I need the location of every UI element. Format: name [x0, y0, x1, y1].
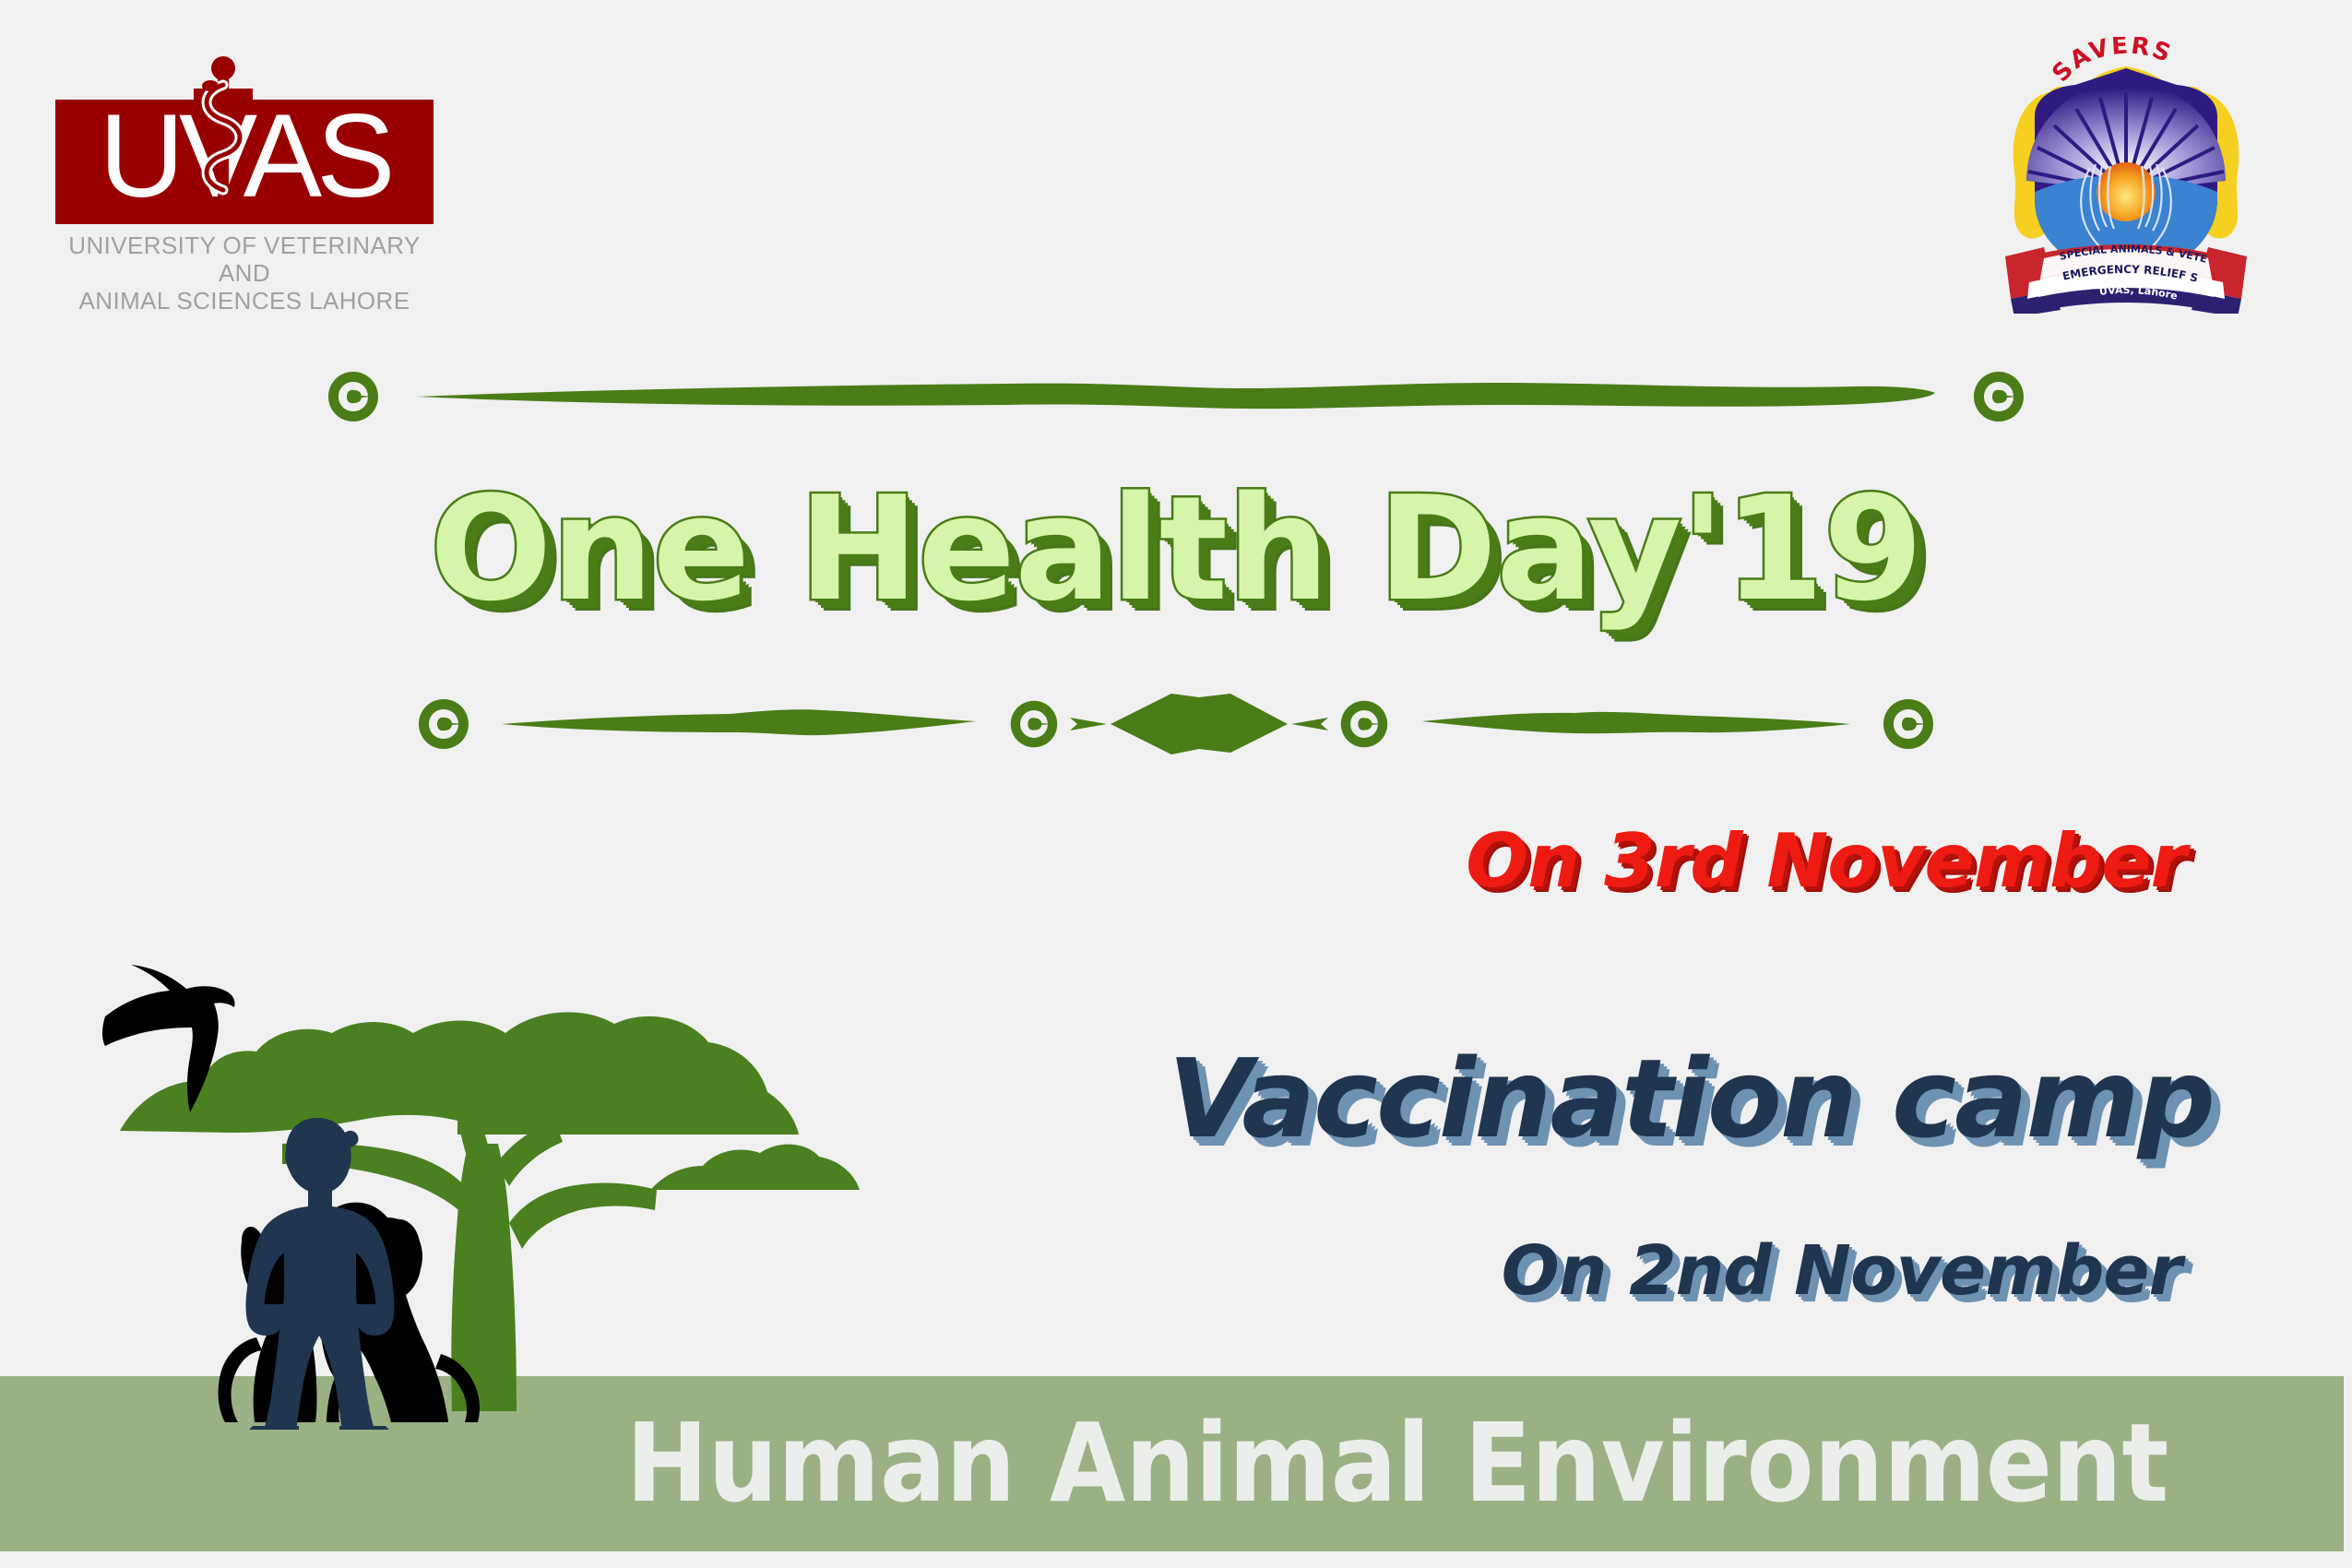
- diamond-ornament-icon: [1107, 692, 1291, 756]
- uvas-subtitle-line1: UNIVERSITY OF VETERINARY AND: [55, 232, 434, 287]
- acacia-tree-icon: [120, 1012, 860, 1411]
- sun-icon: [2097, 162, 2156, 221]
- leaf-tip-icon: [1068, 712, 1107, 736]
- ring-ornament-icon: [1007, 698, 1061, 750]
- one-health-day-date: On 3rd November: [1466, 819, 2186, 904]
- ring-ornament-icon: [1880, 696, 1937, 752]
- page-title: One Health Day'19: [0, 466, 2352, 632]
- savers-logo: SAVERS SPECIAL ANIMALS & VETERINARY EMER…: [2002, 37, 2251, 314]
- uvas-subtitle-line2: ANIMAL SCIENCES LAHORE: [55, 287, 434, 315]
- illustration-group: [101, 913, 987, 1430]
- vaccination-camp-title: Vaccination camp: [1168, 1038, 2214, 1159]
- leaf-divider-icon: [415, 377, 1937, 416]
- uvas-wordmark-block: UVAS: [55, 100, 434, 224]
- ring-ornament-icon: [415, 696, 472, 752]
- divider-top: [0, 369, 2352, 424]
- leaf-divider-icon: [500, 705, 980, 743]
- ring-ornament-icon: [1337, 698, 1391, 750]
- banner-text: Human Animal Environment: [0, 1398, 2352, 1527]
- leaf-divider-icon: [1419, 705, 1852, 743]
- ring-ornament-icon: [325, 369, 382, 424]
- ring-ornament-icon: [1970, 369, 2027, 424]
- vaccination-camp-date: On 2nd November: [1502, 1231, 2181, 1311]
- caduceus-icon: [184, 48, 262, 232]
- leaf-tip-icon: [1291, 712, 1330, 736]
- uvas-subtitle: UNIVERSITY OF VETERINARY AND ANIMAL SCIE…: [55, 232, 434, 315]
- divider-bottom: [0, 692, 2352, 756]
- uvas-logo: UVAS UNIVERSITY OF VETERINARY AND ANIMAL…: [55, 100, 443, 315]
